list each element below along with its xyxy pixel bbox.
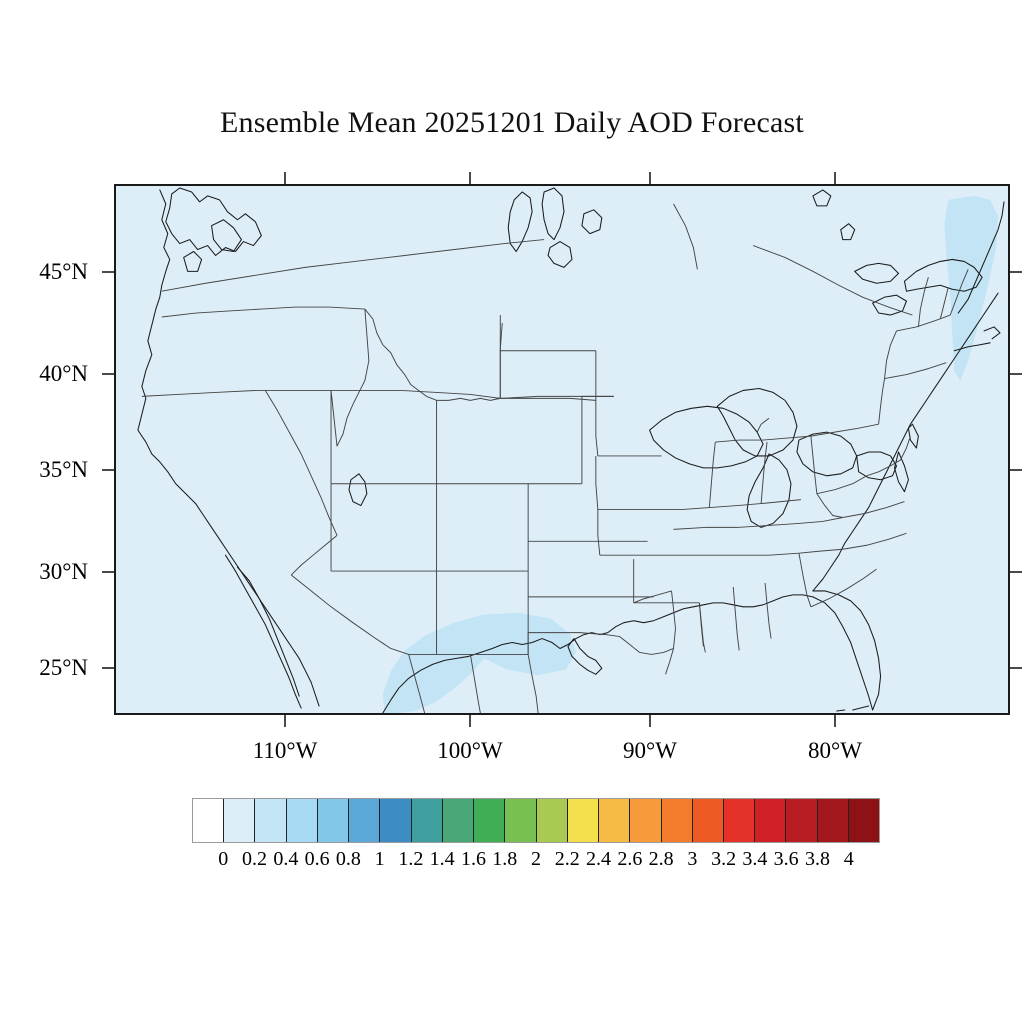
colorbar-cell-19 xyxy=(786,799,817,842)
lon-tick-top-80 xyxy=(834,172,836,184)
lon-label-80: 80°W xyxy=(808,738,862,764)
colorbar-label-12: 2.4 xyxy=(586,848,611,871)
colorbar xyxy=(192,798,880,843)
colorbar-cell-16 xyxy=(693,799,724,842)
lat-tick-right-30 xyxy=(1010,571,1022,573)
colorbar-label-5: 1 xyxy=(375,848,385,871)
map-canvas xyxy=(116,186,1008,713)
lat-tick-40 xyxy=(102,373,114,375)
colorbar-cell-21 xyxy=(849,799,879,842)
colorbar-cells xyxy=(192,798,880,843)
colorbar-cell-12 xyxy=(568,799,599,842)
colorbar-cell-4 xyxy=(318,799,349,842)
colorbar-label-20: 4 xyxy=(844,848,854,871)
colorbar-cell-5 xyxy=(349,799,380,842)
colorbar-cell-18 xyxy=(755,799,786,842)
colorbar-cell-20 xyxy=(818,799,849,842)
colorbar-label-7: 1.4 xyxy=(430,848,455,871)
map-plot-area xyxy=(114,184,1010,715)
colorbar-cell-0 xyxy=(193,799,224,842)
lat-tick-45 xyxy=(102,271,114,273)
colorbar-cell-1 xyxy=(224,799,255,842)
colorbar-label-10: 2 xyxy=(531,848,541,871)
lon-tick-100 xyxy=(469,715,471,727)
colorbar-label-3: 0.6 xyxy=(305,848,330,871)
colorbar-label-6: 1.2 xyxy=(398,848,423,871)
lat-tick-right-45 xyxy=(1010,271,1022,273)
colorbar-cell-6 xyxy=(380,799,411,842)
colorbar-label-15: 3 xyxy=(687,848,697,871)
colorbar-label-14: 2.8 xyxy=(649,848,674,871)
colorbar-label-17: 3.4 xyxy=(742,848,767,871)
colorbar-label-11: 2.2 xyxy=(555,848,580,871)
northwest-atlantic-patch xyxy=(944,196,998,381)
lat-tick-right-35 xyxy=(1010,469,1022,471)
colorbar-label-2: 0.4 xyxy=(273,848,298,871)
colorbar-label-8: 1.6 xyxy=(461,848,486,871)
colorbar-cell-15 xyxy=(662,799,693,842)
lon-label-90: 90°W xyxy=(623,738,677,764)
lon-tick-80 xyxy=(834,715,836,727)
colorbar-label-4: 0.8 xyxy=(336,848,361,871)
colorbar-label-19: 3.8 xyxy=(805,848,830,871)
colorbar-cell-7 xyxy=(412,799,443,842)
lat-label-25: 25°N xyxy=(14,655,88,681)
colorbar-label-18: 3.6 xyxy=(774,848,799,871)
lon-tick-top-110 xyxy=(284,172,286,184)
lat-label-40: 40°N xyxy=(14,361,88,387)
colorbar-cell-10 xyxy=(505,799,536,842)
colorbar-cell-11 xyxy=(537,799,568,842)
page-title: Ensemble Mean 20251201 Daily AOD Forecas… xyxy=(0,106,1024,140)
colorbar-cell-9 xyxy=(474,799,505,842)
lat-tick-25 xyxy=(102,667,114,669)
gulf-of-mexico-patch xyxy=(383,613,576,713)
colorbar-cell-14 xyxy=(630,799,661,842)
lat-label-35: 35°N xyxy=(14,457,88,483)
colorbar-tick-labels: 00.20.40.60.811.21.41.61.822.22.42.62.83… xyxy=(192,848,880,878)
colorbar-cell-3 xyxy=(287,799,318,842)
colorbar-label-0: 0 xyxy=(218,848,228,871)
colorbar-cell-17 xyxy=(724,799,755,842)
lon-label-110: 110°W xyxy=(253,738,318,764)
colorbar-cell-13 xyxy=(599,799,630,842)
lat-label-30: 30°N xyxy=(14,559,88,585)
aod-shaded-regions xyxy=(383,196,998,713)
coastline-layer xyxy=(138,188,1004,713)
colorbar-cell-2 xyxy=(255,799,286,842)
lat-label-45: 45°N xyxy=(14,259,88,285)
lon-tick-top-90 xyxy=(649,172,651,184)
colorbar-label-16: 3.2 xyxy=(711,848,736,871)
lat-tick-30 xyxy=(102,571,114,573)
colorbar-label-9: 1.8 xyxy=(492,848,517,871)
lat-tick-35 xyxy=(102,469,114,471)
lon-tick-110 xyxy=(284,715,286,727)
lat-tick-right-25 xyxy=(1010,667,1022,669)
lon-tick-top-100 xyxy=(469,172,471,184)
colorbar-label-1: 0.2 xyxy=(242,848,267,871)
aod-forecast-figure: Ensemble Mean 20251201 Daily AOD Forecas… xyxy=(0,0,1024,1024)
lat-tick-right-40 xyxy=(1010,373,1022,375)
colorbar-cell-8 xyxy=(443,799,474,842)
colorbar-label-13: 2.6 xyxy=(617,848,642,871)
lon-tick-90 xyxy=(649,715,651,727)
lon-label-100: 100°W xyxy=(437,738,502,764)
